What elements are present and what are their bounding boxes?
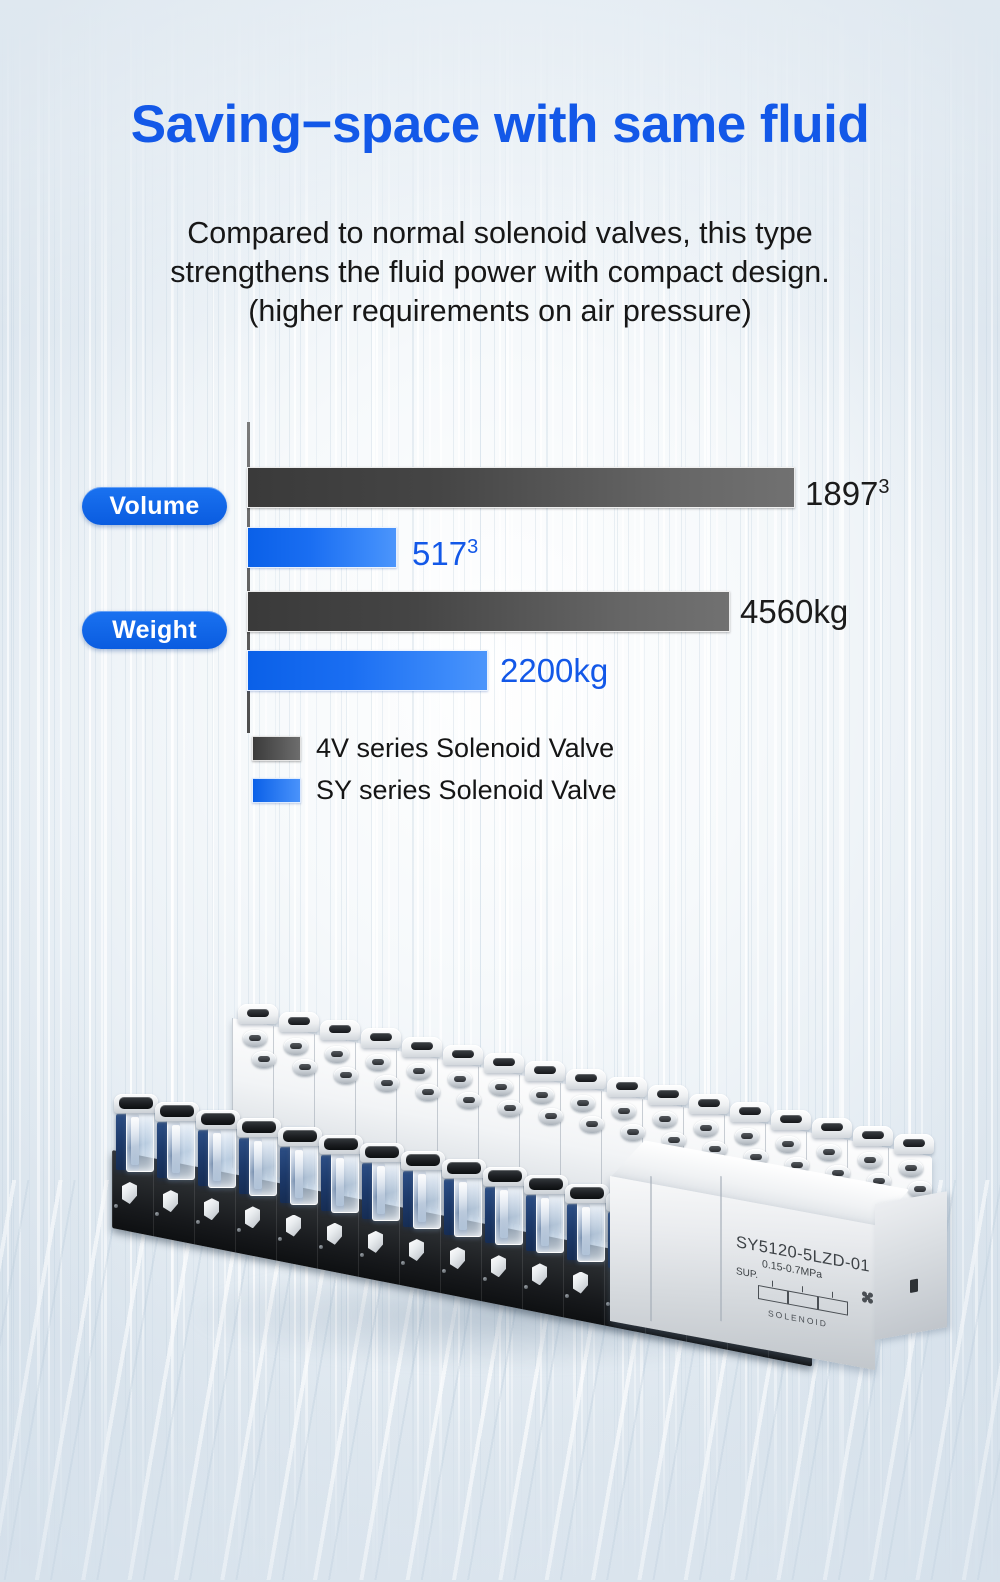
valve-cap-back bbox=[320, 1020, 360, 1040]
valve-cap-front bbox=[360, 1143, 404, 1162]
schematic-box-2 bbox=[788, 1291, 818, 1311]
valve-cap-front bbox=[524, 1175, 568, 1194]
valve-cap-back bbox=[730, 1102, 770, 1122]
valve-cap-back bbox=[812, 1118, 852, 1138]
valve-clear-connector bbox=[536, 1191, 564, 1253]
valve-clear-connector bbox=[126, 1110, 154, 1172]
pneumatic-fitting-knob bbox=[735, 1128, 759, 1145]
valve-clear-connector bbox=[331, 1151, 359, 1213]
pneumatic-fitting-knob bbox=[530, 1087, 554, 1104]
valve-cap-back bbox=[894, 1134, 934, 1154]
pneumatic-fitting-knob bbox=[366, 1054, 390, 1071]
valve-cap-back bbox=[402, 1037, 442, 1057]
valve-cap-front bbox=[565, 1184, 609, 1203]
valve-end-block: SY5120-5LZD-01 0.15-0.7MPa SUP. SOLENOID bbox=[610, 1158, 945, 1343]
manufacturer-logo-icon bbox=[862, 1291, 875, 1306]
pneumatic-fitting-knob bbox=[416, 1084, 440, 1101]
valve-manifold-assembly: SY5120-5LZD-01 0.15-0.7MPa SUP. SOLENOID bbox=[0, 990, 1000, 1410]
valve-cap-back bbox=[238, 1004, 278, 1024]
valve-cap-back bbox=[525, 1061, 565, 1081]
schematic-tick-3 bbox=[832, 1292, 833, 1298]
bar-value-volume-4v: 1897 bbox=[805, 475, 878, 512]
pneumatic-fitting-knob bbox=[621, 1124, 645, 1141]
valve-clear-connector bbox=[290, 1143, 318, 1205]
bar-unit-volume-4v: 3 bbox=[878, 476, 889, 498]
bar-label-weight-4v: 4560kg bbox=[740, 591, 848, 632]
end-block-divider-left bbox=[650, 1176, 652, 1321]
pneumatic-fitting-knob bbox=[407, 1063, 431, 1080]
pneumatic-fitting-knob bbox=[284, 1038, 308, 1055]
valve-clear-connector bbox=[208, 1126, 236, 1188]
valve-clear-connector bbox=[495, 1183, 523, 1245]
pneumatic-fitting-knob bbox=[776, 1136, 800, 1153]
legend-swatch-4v bbox=[252, 736, 301, 761]
schematic-tick-2 bbox=[802, 1286, 803, 1292]
valve-cap-front bbox=[319, 1135, 363, 1154]
pneumatic-fitting-knob bbox=[457, 1092, 481, 1109]
valve-cap-back bbox=[689, 1094, 729, 1114]
pneumatic-fitting-knob bbox=[243, 1030, 267, 1047]
pneumatic-fitting-knob bbox=[293, 1059, 317, 1076]
schematic-box-3 bbox=[818, 1296, 848, 1316]
bar-value-weight-4v: 4560kg bbox=[740, 593, 848, 630]
valve-cap-front bbox=[155, 1102, 199, 1121]
bar-weight-4v bbox=[247, 591, 730, 632]
chart-legend: 4V series Solenoid Valve SY series Solen… bbox=[252, 733, 617, 817]
end-block-divider-mid bbox=[720, 1176, 722, 1321]
valve-cap-back bbox=[648, 1085, 688, 1105]
valve-cap-back bbox=[566, 1069, 606, 1089]
subtitle-line-2: strengthens the fluid power with compact… bbox=[0, 253, 1000, 292]
pneumatic-fitting-knob bbox=[252, 1051, 276, 1068]
bar-label-volume-sy: 5173 bbox=[412, 527, 478, 574]
end-block-port bbox=[910, 1279, 918, 1293]
bar-value-weight-sy: 2200kg bbox=[500, 652, 608, 689]
legend-item-sy: SY series Solenoid Valve bbox=[252, 775, 617, 806]
comparison-bar-chart: Volume Weight 18973 5173 4560kg 2200kg bbox=[0, 415, 1000, 835]
manifold-screw bbox=[360, 1253, 364, 1257]
valve-cap-front bbox=[237, 1118, 281, 1137]
category-badge-volume: Volume bbox=[82, 487, 227, 525]
bar-unit-volume-sy: 3 bbox=[467, 536, 478, 558]
pneumatic-fitting-knob bbox=[325, 1046, 349, 1063]
valve-clear-connector bbox=[372, 1159, 400, 1221]
valve-clear-connector bbox=[413, 1167, 441, 1229]
schematic-box-1 bbox=[758, 1285, 788, 1305]
valve-cap-back bbox=[771, 1110, 811, 1130]
page-title: Saving−space with same fluid bbox=[0, 94, 1000, 155]
valve-cap-front bbox=[114, 1094, 158, 1113]
bar-value-volume-sy: 517 bbox=[412, 535, 467, 572]
manifold-front-seam bbox=[112, 1150, 113, 1228]
manifold-screw bbox=[565, 1294, 569, 1298]
category-badge-weight: Weight bbox=[82, 611, 227, 649]
category-badge-volume-label: Volume bbox=[109, 492, 199, 521]
bar-label-weight-sy: 2200kg bbox=[500, 650, 608, 691]
manifold-screw bbox=[114, 1204, 118, 1208]
bar-weight-sy bbox=[247, 650, 488, 691]
manifold-screw bbox=[401, 1261, 405, 1265]
valve-cap-front bbox=[442, 1159, 486, 1178]
subtitle-line-3: (higher requirements on air pressure) bbox=[0, 292, 1000, 331]
infographic-page: Saving−space with same fluid Compared to… bbox=[0, 0, 1000, 1582]
valve-cap-back bbox=[853, 1126, 893, 1146]
end-block-side-face bbox=[875, 1191, 947, 1340]
valve-cap-front bbox=[278, 1127, 322, 1146]
category-badge-weight-label: Weight bbox=[112, 616, 197, 645]
valve-cap-back bbox=[361, 1028, 401, 1048]
pneumatic-fitting-knob bbox=[571, 1095, 595, 1112]
subtitle-line-1: Compared to normal solenoid valves, this… bbox=[0, 214, 1000, 253]
valve-cap-back bbox=[607, 1077, 647, 1097]
bar-volume-sy bbox=[247, 527, 397, 568]
pneumatic-fitting-knob bbox=[334, 1067, 358, 1084]
valve-cap-back bbox=[484, 1053, 524, 1073]
pneumatic-fitting-knob bbox=[580, 1116, 604, 1133]
bar-volume-4v bbox=[247, 467, 795, 508]
pneumatic-fitting-knob bbox=[694, 1120, 718, 1137]
valve-cap-back bbox=[279, 1012, 319, 1032]
valve-cap-back bbox=[443, 1045, 483, 1065]
pneumatic-fitting-knob bbox=[539, 1108, 563, 1125]
legend-label-4v: 4V series Solenoid Valve bbox=[316, 733, 614, 764]
valve-clear-connector bbox=[167, 1118, 195, 1180]
valve-cap-front bbox=[196, 1110, 240, 1129]
valve-cap-front bbox=[401, 1151, 445, 1170]
pneumatic-fitting-knob bbox=[653, 1111, 677, 1128]
legend-swatch-sy bbox=[252, 778, 301, 803]
legend-label-sy: SY series Solenoid Valve bbox=[316, 775, 617, 806]
manifold-screw bbox=[319, 1245, 323, 1249]
bar-label-volume-4v: 18973 bbox=[805, 467, 890, 514]
schematic-tick-1 bbox=[772, 1281, 773, 1287]
pneumatic-fitting-knob bbox=[489, 1079, 513, 1096]
valve-clear-connector bbox=[454, 1175, 482, 1237]
valve-clear-connector bbox=[249, 1134, 277, 1196]
product-photo: SY5120-5LZD-01 0.15-0.7MPa SUP. SOLENOID bbox=[0, 990, 1000, 1410]
pneumatic-fitting-knob bbox=[448, 1071, 472, 1088]
pneumatic-fitting-knob bbox=[498, 1100, 522, 1117]
valve-clear-connector bbox=[577, 1200, 605, 1262]
page-subtitle: Compared to normal solenoid valves, this… bbox=[0, 214, 1000, 331]
pneumatic-fitting-knob bbox=[612, 1103, 636, 1120]
legend-item-4v: 4V series Solenoid Valve bbox=[252, 733, 617, 764]
manifold-screw bbox=[278, 1237, 282, 1241]
pneumatic-fitting-knob bbox=[375, 1075, 399, 1092]
valve-cap-front bbox=[483, 1167, 527, 1186]
